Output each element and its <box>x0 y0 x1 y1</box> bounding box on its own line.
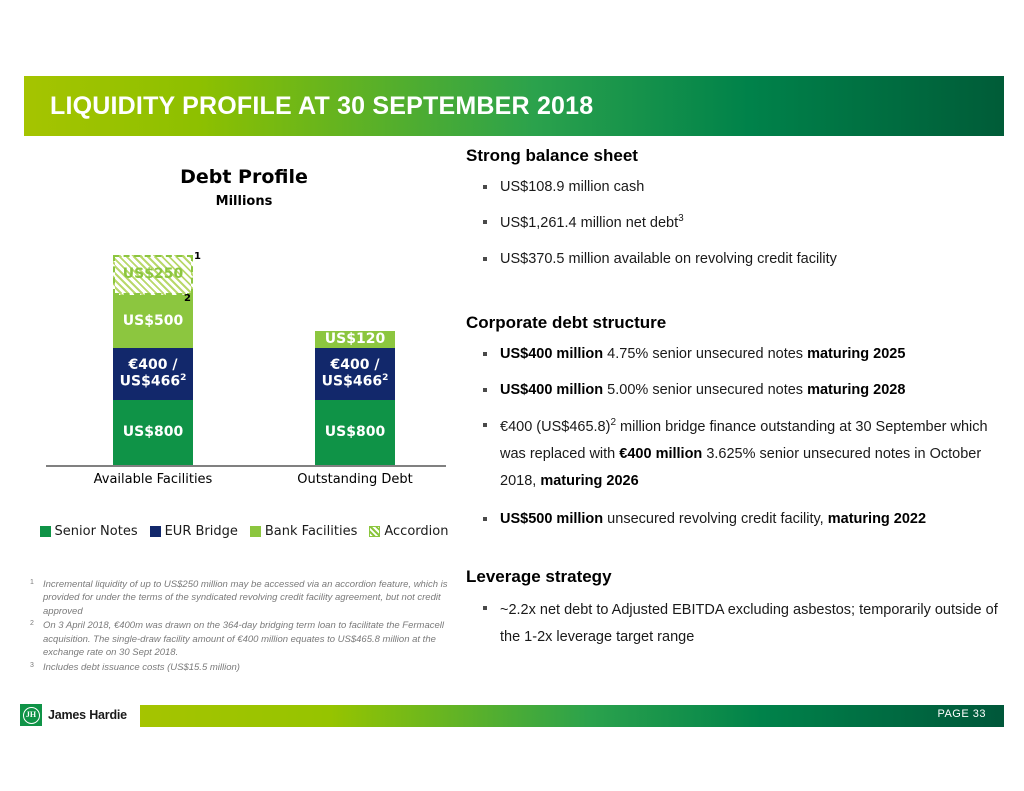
chart-category-labels: Available Facilities Outstanding Debt <box>24 472 464 496</box>
legend-item-accordion: Accordion <box>369 524 448 539</box>
bar-segment-senior-notes: US$800 <box>315 400 395 465</box>
bar-segment-bridge-label-line2: US$4662 <box>120 374 187 390</box>
category-label-outstanding-debt: Outstanding Debt <box>265 472 445 487</box>
chart-x-axis <box>46 465 446 467</box>
bar-segment-accordion: US$250 1 <box>113 255 193 295</box>
bar-available-facilities: US$250 1 US$500 2 €400 / US$4662 US$800 <box>113 255 193 465</box>
bar-outstanding-debt: US$120 €400 / US$4662 US$800 <box>315 331 395 465</box>
footnote-marker-2: 2 <box>382 373 388 383</box>
footnote-text: Includes debt issuance costs (US$15.5 mi… <box>43 661 460 674</box>
chart-plot-area: US$250 1 US$500 2 €400 / US$4662 US$800 <box>24 160 464 520</box>
james-hardie-logo: JH James Hardie <box>20 704 127 726</box>
page-title: LIQUIDITY PROFILE AT 30 SEPTEMBER 2018 <box>24 92 593 121</box>
bar-segment-bank-facilities: US$120 <box>315 331 395 348</box>
list-item: US$370.5 million available on revolving … <box>466 248 1014 270</box>
list-item: €400 (US$465.8)2 million bridge finance … <box>466 414 1014 494</box>
list-item: US$500 million unsecured revolving credi… <box>466 508 1014 530</box>
debt-profile-chart: Debt Profile Millions US$250 1 US$500 2 … <box>24 160 464 520</box>
bullet-bold-amount: US$400 million <box>500 382 603 398</box>
logo-mark-icon: JH <box>20 704 42 726</box>
legend-swatch-eur-bridge-icon <box>150 526 161 537</box>
legend-swatch-senior-notes-icon <box>40 526 51 537</box>
legend-swatch-accordion-icon <box>369 526 380 537</box>
bullet-mid-text: 4.75% senior unsecured notes <box>603 346 807 362</box>
logo-text: James Hardie <box>48 708 127 722</box>
bar-segment-eur-bridge: €400 / US$4662 <box>315 348 395 400</box>
footnotes-block: 1 Incremental liquidity of up to US$250 … <box>30 578 460 675</box>
spacer <box>466 543 1014 567</box>
footnote-number: 3 <box>30 661 38 674</box>
legend-label-accordion: Accordion <box>384 524 448 539</box>
bar-segment-accordion-label: US$250 <box>123 267 183 282</box>
bullet-pre-text: €400 (US$465.8) <box>500 419 610 435</box>
footnote-marker-2: 2 <box>184 293 191 304</box>
footnote-marker-3: 3 <box>678 213 684 224</box>
right-content-column: Strong balance sheet US$108.9 million ca… <box>466 146 1014 664</box>
footnote-text: On 3 April 2018, €400m was drawn on the … <box>43 619 460 659</box>
chart-legend: Senior Notes EUR Bridge Bank Facilities … <box>24 524 464 539</box>
bar-segment-senior-label: US$800 <box>325 425 385 440</box>
footnote-marker-1: 1 <box>194 251 201 262</box>
bullet-list-leverage: ~2.2x net debt to Adjusted EBITDA exclud… <box>466 597 1014 651</box>
list-item: US$400 million 4.75% senior unsecured no… <box>466 343 1014 365</box>
list-item: US$108.9 million cash <box>466 176 1014 198</box>
bullet-bold-amount: €400 million <box>619 446 702 462</box>
section-heading-leverage: Leverage strategy <box>466 567 1014 587</box>
slide-root: LIQUIDITY PROFILE AT 30 SEPTEMBER 2018 D… <box>0 0 1024 791</box>
bullet-bold-maturity: maturing 2025 <box>807 346 905 362</box>
bullet-list-balance-sheet: US$108.9 million cash US$1,261.4 million… <box>466 176 1014 270</box>
bar-segment-bridge-label-line2: US$4662 <box>322 374 389 390</box>
bullet-list-debt-structure: US$400 million 4.75% senior unsecured no… <box>466 343 1014 530</box>
list-item: US$1,261.4 million net debt3 <box>466 211 1014 234</box>
footnote-marker-2: 2 <box>180 373 186 383</box>
footnote-text: Incremental liquidity of up to US$250 mi… <box>43 578 460 618</box>
bar-segment-eur-bridge: €400 / US$4662 <box>113 348 193 400</box>
bar-segment-bridge-label-line1: €400 / <box>129 358 178 373</box>
bar-segment-senior-notes: US$800 <box>113 400 193 465</box>
bar-segment-senior-label: US$800 <box>123 425 183 440</box>
bar-segment-bank-label: US$500 <box>123 314 183 329</box>
page-number: PAGE 33 <box>937 708 986 720</box>
section-heading-debt-structure: Corporate debt structure <box>466 313 1014 333</box>
legend-label-bank-facilities: Bank Facilities <box>265 524 358 539</box>
bar-segment-bank-facilities: US$500 2 <box>113 295 193 348</box>
slide-title-banner: LIQUIDITY PROFILE AT 30 SEPTEMBER 2018 <box>24 76 1004 136</box>
bullet-bold-amount: US$400 million <box>500 346 603 362</box>
legend-swatch-bank-facilities-icon <box>250 526 261 537</box>
footnote-row: 3 Includes debt issuance costs (US$15.5 … <box>30 661 460 674</box>
legend-label-senior-notes: Senior Notes <box>55 524 138 539</box>
bullet-bold-maturity: maturing 2022 <box>828 511 926 527</box>
footnote-number: 1 <box>30 578 38 618</box>
legend-item-bank-facilities: Bank Facilities <box>250 524 358 539</box>
legend-item-senior-notes: Senior Notes <box>40 524 138 539</box>
footnote-number: 2 <box>30 619 38 659</box>
bullet-bold-maturity: maturing 2026 <box>540 473 638 489</box>
footnote-row: 1 Incremental liquidity of up to US$250 … <box>30 578 460 618</box>
bullet-mid-text: unsecured revolving credit facility, <box>603 511 828 527</box>
spacer <box>466 283 1014 313</box>
legend-label-eur-bridge: EUR Bridge <box>165 524 238 539</box>
category-label-available-facilities: Available Facilities <box>63 472 243 487</box>
bullet-bold-maturity: maturing 2028 <box>807 382 905 398</box>
legend-item-eur-bridge: EUR Bridge <box>150 524 238 539</box>
bullet-mid-text: 5.00% senior unsecured notes <box>603 382 807 398</box>
bar-segment-bridge-label-line1: €400 / <box>331 358 380 373</box>
logo-monogram: JH <box>23 707 40 724</box>
list-item: US$400 million 5.00% senior unsecured no… <box>466 379 1014 401</box>
list-item: ~2.2x net debt to Adjusted EBITDA exclud… <box>466 597 1014 651</box>
section-heading-balance-sheet: Strong balance sheet <box>466 146 1014 166</box>
footer-bar: PAGE 33 <box>140 705 1004 727</box>
bar-segment-bank-label: US$120 <box>325 332 385 347</box>
footnote-row: 2 On 3 April 2018, €400m was drawn on th… <box>30 619 460 659</box>
bullet-bold-amount: US$500 million <box>500 511 603 527</box>
